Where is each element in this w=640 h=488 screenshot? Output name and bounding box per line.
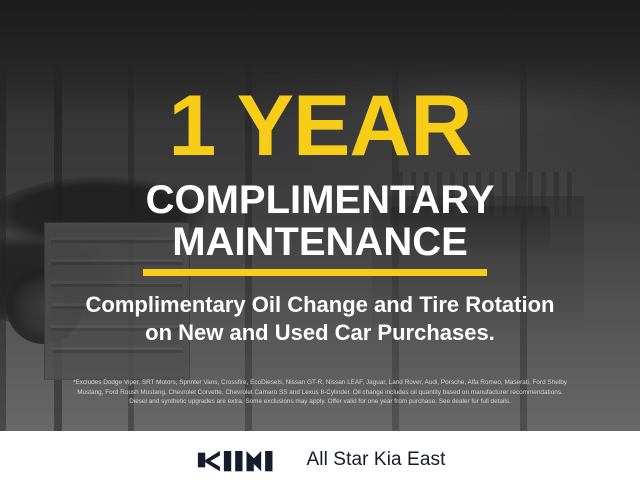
hero-photo-area: 1 YEAR COMPLIMENTARY MAINTENANCE Complim… xyxy=(0,0,640,431)
disclaimer-line-1: *Excludes Dodge Viper, SRT Motors, Sprin… xyxy=(10,378,630,388)
banner-copy-stack: 1 YEAR COMPLIMENTARY MAINTENANCE Complim… xyxy=(0,0,640,431)
disclaimer-fine-print: *Excludes Dodge Viper, SRT Motors, Sprin… xyxy=(10,378,630,407)
subheadline: Complimentary Oil Change and Tire Rotati… xyxy=(0,291,640,347)
dealer-footer-bar: All Star Kia East xyxy=(0,431,640,488)
disclaimer-line-3: Diesel and synthetic upgrades are extra.… xyxy=(10,397,630,407)
maintenance-offer-banner: 1 YEAR COMPLIMENTARY MAINTENANCE Complim… xyxy=(0,0,640,488)
dealer-name-label: All Star Kia East xyxy=(307,449,446,471)
kia-logo-icon xyxy=(195,447,281,473)
disclaimer-line-2: Mustang, Ford Roush Mustang, Chevrolet C… xyxy=(10,388,630,398)
yellow-divider-rule xyxy=(143,269,487,276)
headline-maintenance: MAINTENANCE xyxy=(0,222,640,262)
headline-1-year: 1 YEAR xyxy=(0,83,640,169)
subheadline-line-2: on New and Used Car Purchases. xyxy=(18,319,622,347)
headline-complimentary: COMPLIMENTARY xyxy=(0,180,640,220)
subheadline-line-1: Complimentary Oil Change and Tire Rotati… xyxy=(18,291,622,319)
